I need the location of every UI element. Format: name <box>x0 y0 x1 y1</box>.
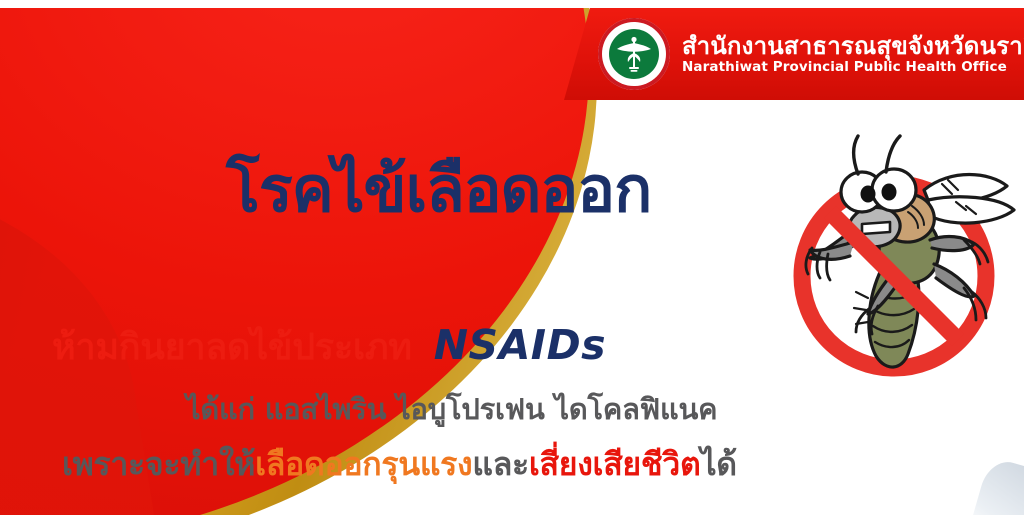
drug-list-text: ได้แก่ แอสไพริน ไอบูโปรเฟน ไดโคลฟิแนค <box>186 395 717 424</box>
consequence-line: เพราะจะทำให้เลือดออกรุนแรงและเสี่ยงเสียช… <box>62 448 737 480</box>
drug-class-label: NSAIDs <box>434 325 606 366</box>
warning-line: ห้ามกินยาลดไข้ประเภท NSAIDs <box>52 325 606 366</box>
consequence-part-2-severe-bleeding: เลือดออกรุนแรง <box>255 445 472 483</box>
mosquito-illustration <box>776 128 1018 390</box>
page-title: โรคไข้เลือดออก <box>226 158 651 221</box>
mosquito-prohibited-icon <box>776 128 1018 390</box>
consequence-part-1: เพราะจะทำให้ <box>62 445 255 483</box>
consequence-part-4-death-risk: เสี่ยงเสียชีวิต <box>529 445 701 483</box>
top-white-strip <box>0 0 1024 8</box>
dengue-fever-poster: สำนักงานสาธารณสุขจังหวัดนราธิวาส Narathi… <box>0 0 1024 515</box>
consequence-part-5: ได้ <box>700 445 736 483</box>
consequence-part-3: และ <box>472 445 529 483</box>
warning-text-thai: ห้ามกินยาลดไข้ประเภท <box>52 330 412 366</box>
